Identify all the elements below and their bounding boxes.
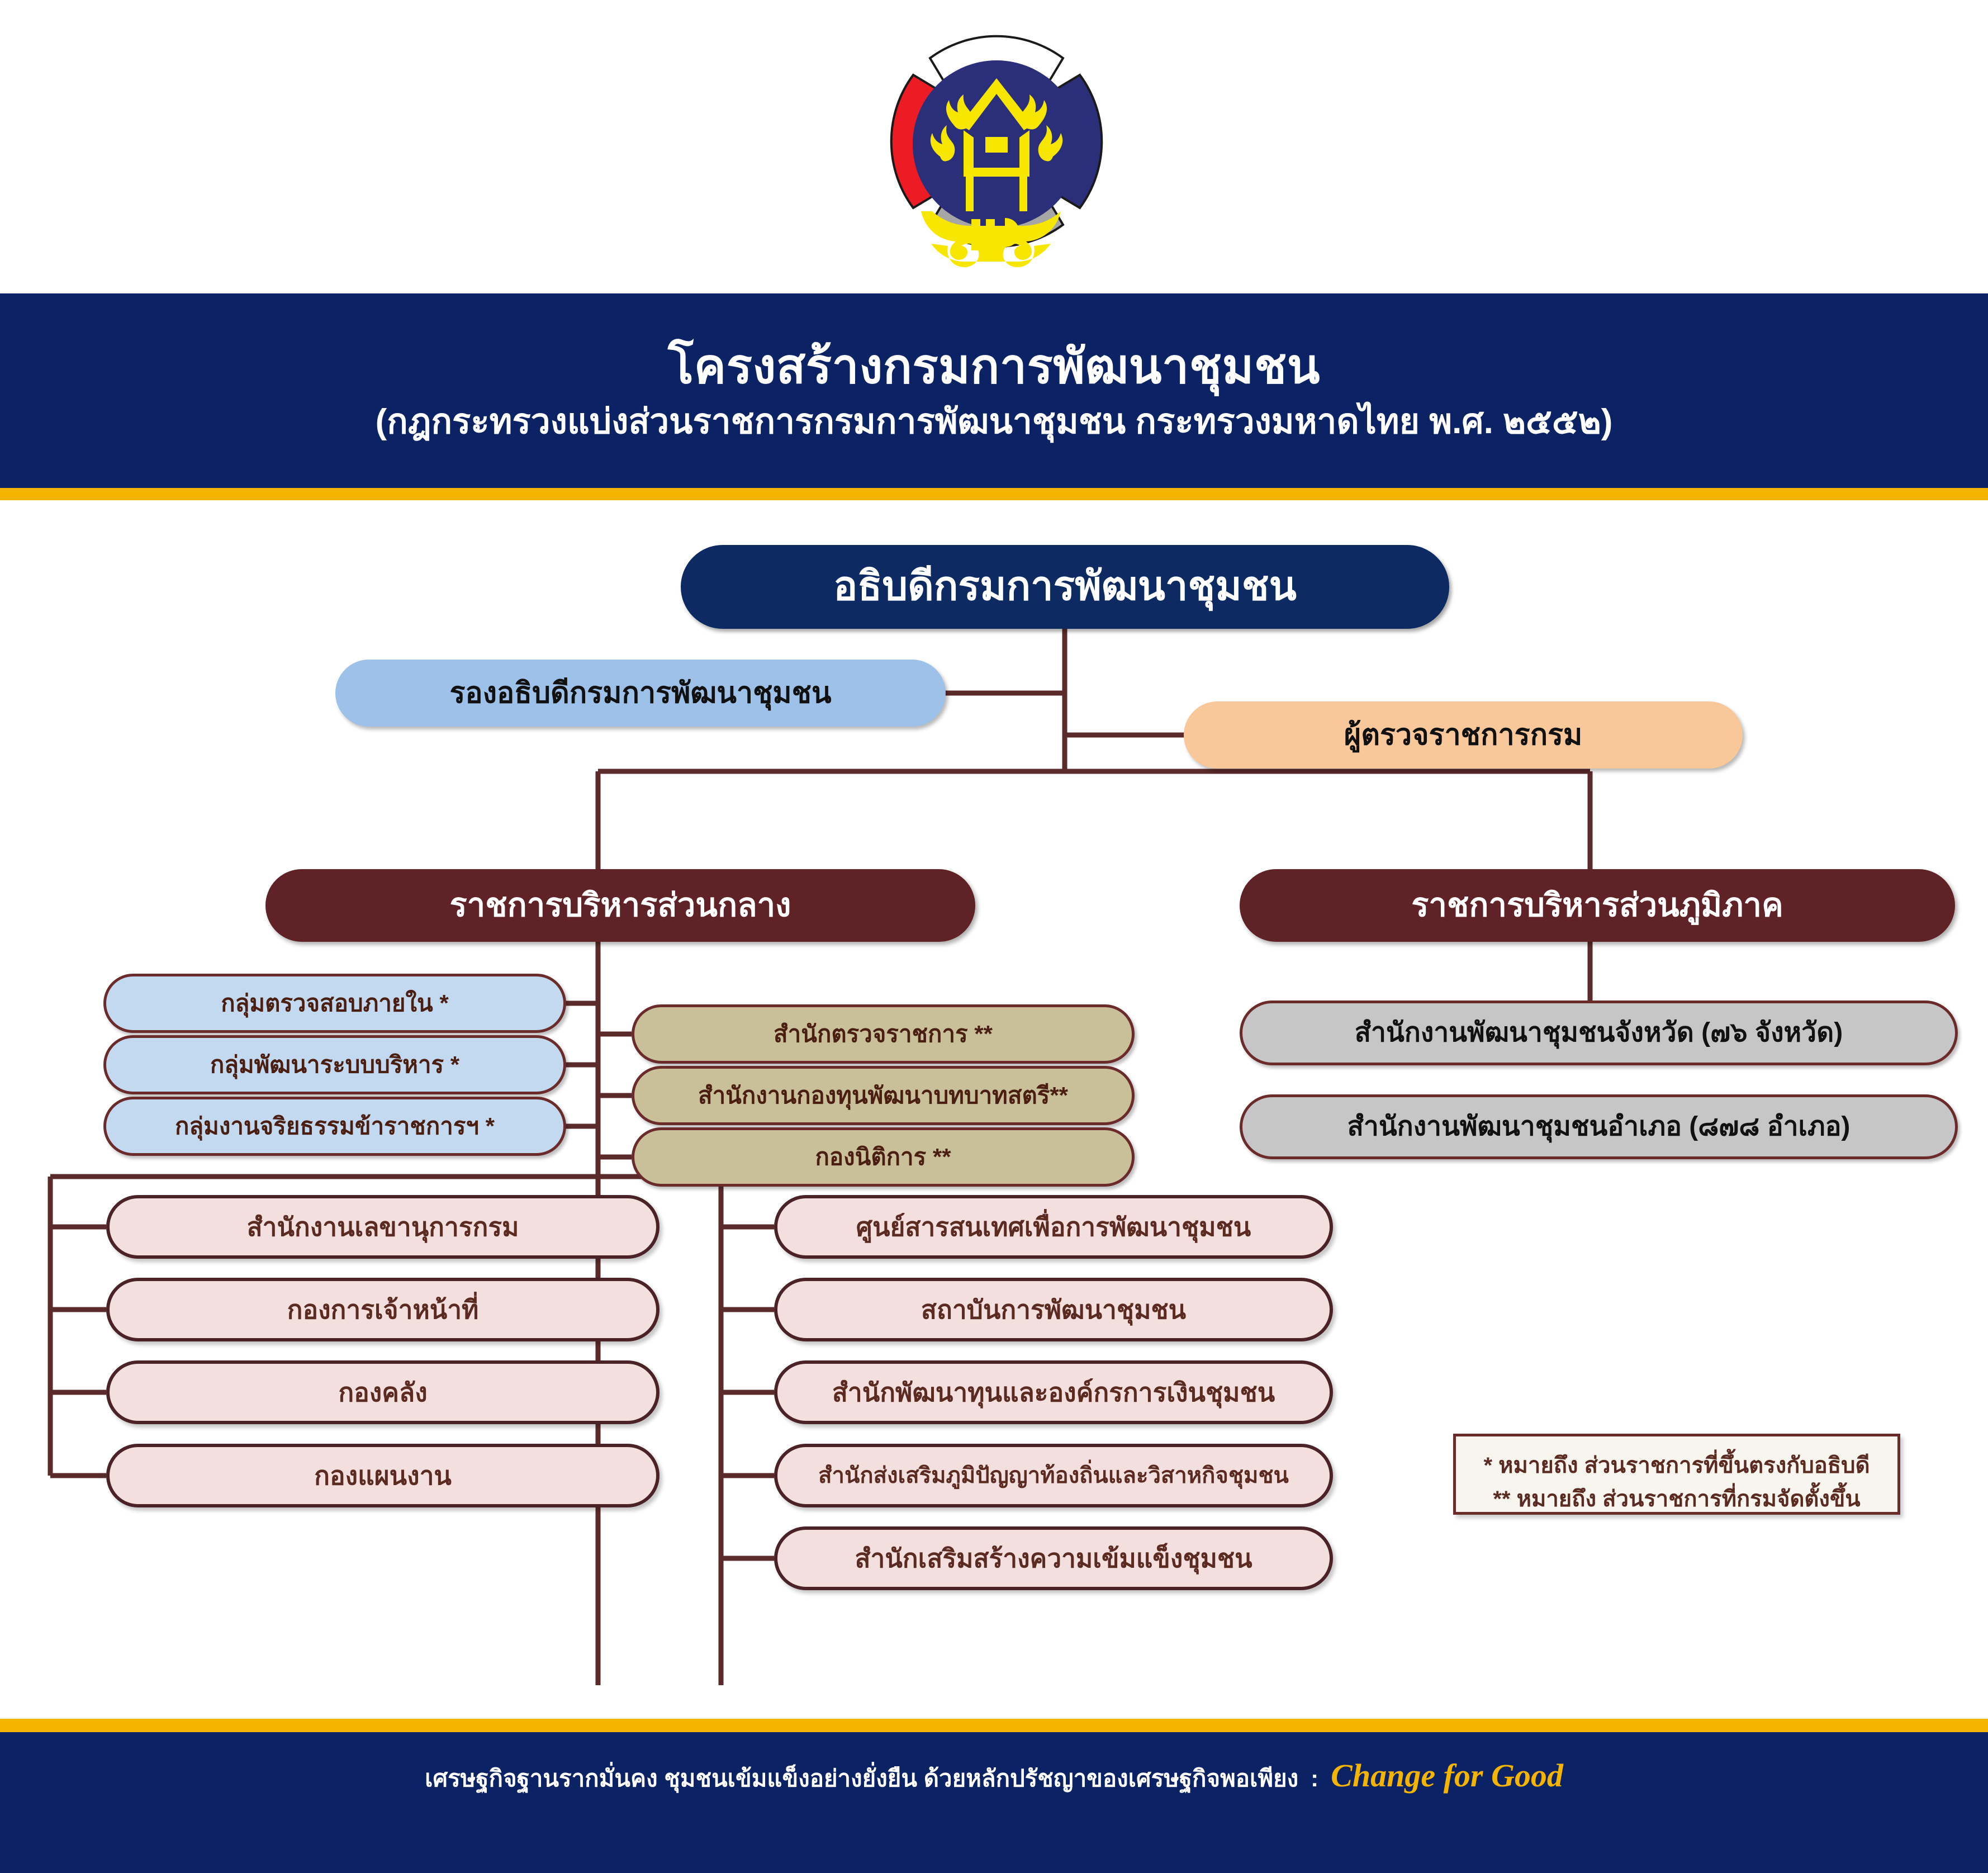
node-section-regional[interactable]: ราชการบริหารส่วนภูมิภาค: [1240, 869, 1955, 942]
node-division-cd-institute[interactable]: สถาบันการพัฒนาชุมชน: [774, 1278, 1333, 1341]
node-direct-unit-ethics[interactable]: กลุ่มงานจริยธรรมข้าราชการฯ *: [103, 1097, 566, 1156]
node-department-unit-inspection-bureau[interactable]: สำนักตรวจราชการ **: [632, 1004, 1135, 1064]
cdd-emblem-logo: [865, 10, 1128, 273]
org-chart: อธิบดีกรมการพัฒนาชุมชน รองอธิบดีกรมการพั…: [0, 500, 1988, 1719]
node-label: กองแผนงาน: [314, 1462, 452, 1489]
node-division-finance[interactable]: กองคลัง: [106, 1360, 659, 1424]
node-division-community-strengthening[interactable]: สำนักเสริมสร้างความเข้มแข็งชุมชน: [774, 1526, 1333, 1590]
page-subtitle: (กฎกระทรวงแบ่งส่วนราชการกรมการพัฒนาชุมชน…: [376, 402, 1613, 442]
node-division-capital-finance[interactable]: สำนักพัฒนาทุนและองค์กรการเงินชุมชน: [774, 1360, 1333, 1424]
legend-box: * หมายถึง ส่วนราชการที่ขึ้นตรงกับอธิบดี …: [1453, 1434, 1900, 1515]
node-label: สำนักงานกองทุนพัฒนาบทบาทสตรี**: [698, 1083, 1068, 1108]
node-label: สำนักงานพัฒนาชุมชนอำเภอ (๘๗๘ อำเภอ): [1348, 1113, 1851, 1141]
footer-separator: :: [1311, 1765, 1318, 1792]
node-label: ราชการบริหารส่วนภูมิภาค: [1411, 889, 1783, 923]
node-regional-district-office[interactable]: สำนักงานพัฒนาชุมชนอำเภอ (๘๗๘ อำเภอ): [1240, 1094, 1958, 1159]
node-director-general[interactable]: อธิบดีกรมการพัฒนาชุมชน: [681, 545, 1449, 629]
header-banner: โครงสร้างกรมการพัฒนาชุมชน (กฎกระทรวงแบ่ง…: [0, 293, 1988, 488]
node-department-unit-womens-fund[interactable]: สำนักงานกองทุนพัฒนาบทบาทสตรี**: [632, 1066, 1135, 1125]
node-division-secretariat[interactable]: สำนักงานเลขานุการกรม: [106, 1195, 659, 1259]
node-label: ศูนย์สารสนเทศเพื่อการพัฒนาชุมชน: [856, 1213, 1251, 1240]
legend-line-double-asterisk: ** หมายถึง ส่วนราชการที่กรมจัดตั้งขึ้น: [1475, 1482, 1878, 1516]
node-label: กองการเจ้าหน้าที่: [287, 1296, 479, 1323]
node-section-central[interactable]: ราชการบริหารส่วนกลาง: [265, 869, 975, 942]
node-label: สำนักพัฒนาทุนและองค์กรการเงินชุมชน: [832, 1379, 1275, 1406]
node-label: สำนักงานเลขานุการกรม: [247, 1213, 519, 1240]
node-label: ผู้ตรวจราชการกรม: [1344, 720, 1583, 751]
header-gold-rule: [0, 488, 1988, 500]
node-division-planning[interactable]: กองแผนงาน: [106, 1444, 659, 1507]
node-division-personnel[interactable]: กองการเจ้าหน้าที่: [106, 1278, 659, 1341]
node-label: กองนิติการ **: [815, 1145, 951, 1169]
node-label: กองคลัง: [338, 1379, 427, 1406]
footer-slogan: Change for Good: [1331, 1757, 1563, 1794]
node-label: กลุ่มงานจริยธรรมข้าราชการฯ *: [175, 1114, 495, 1139]
node-label: กลุ่มตรวจสอบภายใน *: [221, 991, 449, 1016]
node-label: อธิบดีกรมการพัฒนาชุมชน: [833, 566, 1297, 608]
page-title: โครงสร้างกรมการพัฒนาชุมชน: [668, 340, 1320, 393]
cdd-emblem-icon: [865, 10, 1128, 273]
node-label: สำนักงานพัฒนาชุมชนจังหวัด (๗๖ จังหวัด): [1355, 1019, 1843, 1047]
node-label: สถาบันการพัฒนาชุมชน: [921, 1296, 1186, 1323]
node-direct-unit-admin-development[interactable]: กลุ่มพัฒนาระบบบริหาร *: [103, 1035, 566, 1094]
node-label: สำนักเสริมสร้างความเข้มแข็งชุมชน: [855, 1545, 1252, 1572]
legend-line-single-asterisk: * หมายถึง ส่วนราชการที่ขึ้นตรงกับอธิบดี: [1475, 1449, 1878, 1482]
logo-area: [0, 0, 1988, 293]
footer-inner: เศรษฐกิจฐานรากมั่นคง ชุมชนเข้มแข็งอย่างย…: [425, 1757, 1563, 1797]
node-label: สำนักส่งเสริมภูมิปัญญาท้องถิ่นและวิสาหกิ…: [818, 1464, 1289, 1487]
footer-bar: เศรษฐกิจฐานรากมั่นคง ชุมชนเข้มแข็งอย่างย…: [0, 1732, 1988, 1873]
footer-gold-rule: [0, 1719, 1988, 1732]
node-label: รองอธิบดีกรมการพัฒนาชุมชน: [449, 678, 831, 709]
node-label: ราชการบริหารส่วนกลาง: [449, 889, 791, 923]
node-label: สำนักตรวจราชการ **: [774, 1022, 993, 1046]
node-label: กลุ่มพัฒนาระบบบริหาร *: [210, 1052, 459, 1077]
node-deputy-director-general[interactable]: รองอธิบดีกรมการพัฒนาชุมชน: [335, 660, 946, 727]
node-division-information-center[interactable]: ศูนย์สารสนเทศเพื่อการพัฒนาชุมชน: [774, 1195, 1333, 1259]
node-direct-unit-internal-audit[interactable]: กลุ่มตรวจสอบภายใน *: [103, 974, 566, 1033]
node-division-local-wisdom[interactable]: สำนักส่งเสริมภูมิปัญญาท้องถิ่นและวิสาหกิ…: [774, 1444, 1333, 1507]
node-department-unit-legal[interactable]: กองนิติการ **: [632, 1127, 1135, 1187]
footer-motto: เศรษฐกิจฐานรากมั่นคง ชุมชนเข้มแข็งอย่างย…: [425, 1760, 1298, 1797]
node-inspector[interactable]: ผู้ตรวจราชการกรม: [1184, 701, 1743, 769]
node-regional-provincial-office[interactable]: สำนักงานพัฒนาชุมชนจังหวัด (๗๖ จังหวัด): [1240, 1000, 1958, 1065]
